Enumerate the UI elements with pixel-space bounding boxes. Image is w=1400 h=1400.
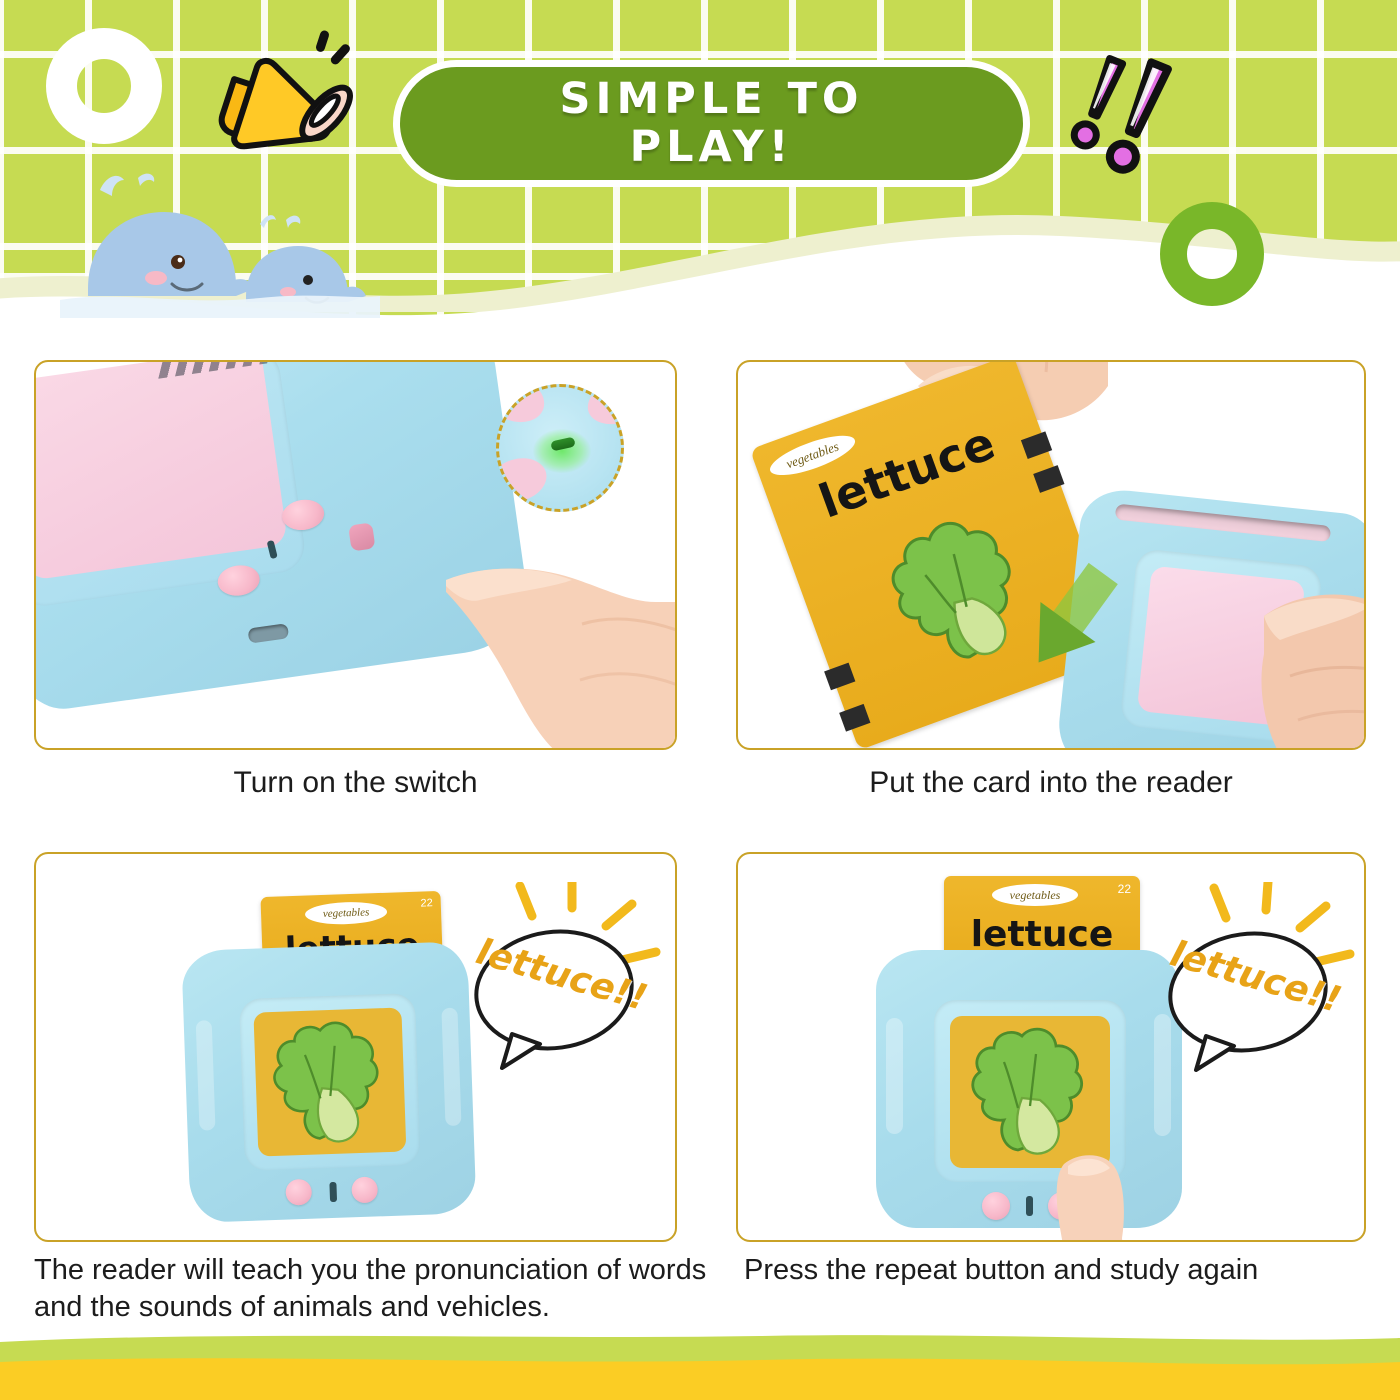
footer-waves <box>0 1324 1400 1400</box>
ring-green-icon <box>1160 202 1264 306</box>
power-switch-closeup-inset <box>496 384 624 512</box>
card-stripe <box>839 704 870 732</box>
step-photo-4: vegetables 22 lettuce <box>736 852 1366 1242</box>
device-screen <box>950 1016 1110 1168</box>
led-indicator <box>1026 1196 1033 1216</box>
footer-wave-svg <box>0 1324 1400 1400</box>
card-number: 22 <box>1118 882 1131 896</box>
hand-holding-device <box>1246 554 1366 750</box>
card-category-tag: vegetables <box>992 884 1078 906</box>
grip-ridge <box>886 1018 903 1134</box>
card-reader-device <box>181 941 481 1229</box>
card-number: 22 <box>420 897 433 909</box>
megaphone-sound-lines-icon <box>300 28 360 88</box>
hand-pressing-button <box>1038 1152 1158 1242</box>
step-card-2: vegetables lettuce <box>736 360 1366 800</box>
insert-direction-arrow-icon <box>1006 558 1136 688</box>
card-category-tag: vegetables <box>305 901 388 926</box>
step-photo-3: vegetables 22 lettuce <box>34 852 677 1242</box>
button-play[interactable] <box>982 1192 1010 1220</box>
step-card-4: vegetables 22 lettuce <box>736 852 1366 1322</box>
step-card-1: Turn on the switch <box>34 360 677 800</box>
hand-pointing <box>440 540 677 750</box>
led-glow <box>533 429 591 473</box>
steps-grid: Turn on the switch vegetables lett <box>0 318 1400 1338</box>
step-photo-1 <box>34 360 677 750</box>
step-caption-2: Put the card into the reader <box>736 764 1366 802</box>
banner-title-line2: PLAY! <box>630 126 794 169</box>
banner-title-pill: SIMPLE TO PLAY! <box>393 60 1030 187</box>
step-caption-4: Press the repeat button and study again <box>744 1252 1366 1289</box>
exclamation-marks-icon <box>1048 48 1188 188</box>
speech-bubble: lettuce!! <box>446 882 676 1092</box>
speech-bubble: lettuce!! <box>1138 882 1366 1092</box>
led-indicator <box>329 1182 337 1202</box>
lettuce-illustration-icon <box>253 1007 406 1156</box>
inset-pink-edge-top <box>496 384 551 430</box>
power-switch[interactable] <box>348 522 375 551</box>
step-card-3: vegetables 22 lettuce <box>34 852 677 1322</box>
banner-title-line1: SIMPLE TO <box>560 78 864 121</box>
device-screen-pink <box>34 360 288 581</box>
inset-pink-edge-right <box>582 384 624 432</box>
ring-icon <box>46 28 162 144</box>
whale-icon <box>60 150 380 318</box>
device-screen <box>253 1007 406 1156</box>
lettuce-illustration-icon <box>950 1016 1110 1168</box>
infographic-page: SIMPLE TO PLAY! <box>0 0 1400 1400</box>
step-photo-2: vegetables lettuce <box>736 360 1366 750</box>
card-word: lettuce <box>944 914 1140 955</box>
step-caption-1: Turn on the switch <box>34 764 677 802</box>
header-banner: SIMPLE TO PLAY! <box>0 0 1400 318</box>
step-caption-3: The reader will teach you the pronunciat… <box>34 1252 714 1326</box>
card-stripe <box>824 663 855 691</box>
